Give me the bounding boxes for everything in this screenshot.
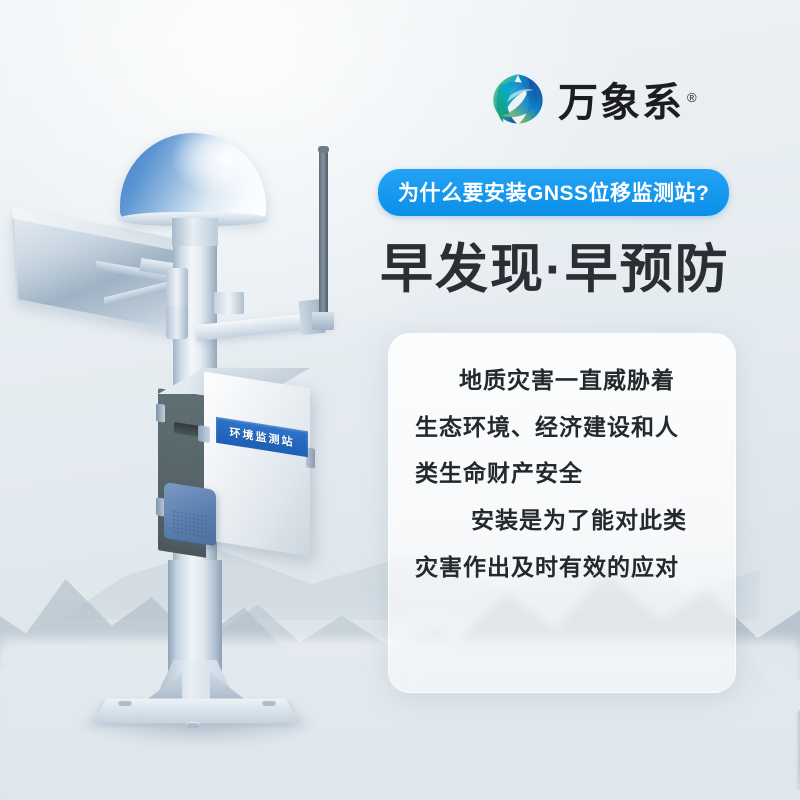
description-card: 地质灾害一直威胁着 生态环境、经济建设和人 类生命财产安全 安装是为了能对此类 …: [388, 333, 736, 693]
equipment-enclosure: [204, 372, 310, 557]
antenna-dome-neck: [172, 218, 218, 246]
enclosure-hinge: [156, 403, 165, 422]
monitoring-station-render: 环境监测站: [0, 0, 400, 800]
antenna-rod-mount: [312, 312, 334, 330]
mast-bracket: [214, 292, 244, 314]
registered-mark: ®: [687, 90, 699, 105]
card-line-3: 类生命财产安全: [415, 457, 709, 490]
antenna-rod-cap: [318, 146, 329, 153]
panel-mast-clamp-upper: [166, 268, 188, 308]
brand-name-text: 万象系: [558, 81, 684, 125]
brand-name: 万象系®: [558, 70, 699, 128]
panel-mast-clamp-lower: [166, 305, 188, 339]
base-bolt-slot: [118, 700, 132, 706]
card-line-4: 安装是为了能对此类: [415, 504, 709, 537]
whip-antenna-rod: [319, 150, 328, 318]
brand-logo: 万象系®: [490, 68, 699, 130]
page-title: 早发现·早预防: [380, 227, 730, 303]
poster-canvas: 环境监测站 万象系® 为什么要安: [0, 0, 800, 800]
card-line-2: 生态环境、经济建设和人: [415, 411, 709, 444]
base-bolt-slot: [186, 722, 200, 728]
enclosure-clip: [198, 425, 210, 443]
card-line-5: 灾害作出及时有效的应对: [415, 551, 709, 584]
question-badge: 为什么要安装GNSS位移监测站?: [378, 169, 729, 216]
card-line-1: 地质灾害一直威胁着: [415, 364, 709, 397]
globe-swirl-icon: [490, 71, 546, 127]
base-bolt-slot: [262, 700, 276, 706]
gnss-antenna-dome: [120, 133, 266, 221]
enclosure-label-text: 环境监测站: [230, 424, 295, 450]
